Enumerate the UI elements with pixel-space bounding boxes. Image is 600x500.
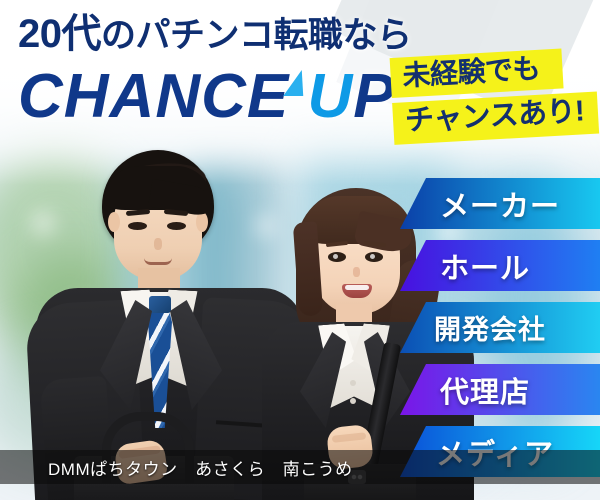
credit-strip: DMMぱちタウン あさくら 南こうめ: [0, 450, 600, 484]
male-nose: [154, 238, 162, 250]
category-hall[interactable]: ホール: [400, 240, 600, 291]
male-eye-right: [167, 222, 186, 230]
category-label: 開発会社: [400, 308, 546, 347]
banner-ad[interactable]: 20代のパチンコ転職なら CHANCE UP 未経験でも チャンスあり! メーカ…: [0, 0, 600, 500]
logo-u-arrow-icon: U: [307, 66, 353, 128]
category-maker[interactable]: メーカー: [400, 178, 600, 229]
female-blouse-button: [350, 380, 356, 386]
male-ear-right: [196, 212, 208, 232]
female-eye-right: [365, 252, 383, 262]
page-title: 20代のパチンコ転職なら: [18, 14, 412, 54]
male-fringe: [104, 166, 212, 210]
logo-chance-text: CHANCE: [18, 62, 307, 131]
female-blouse-button: [350, 398, 356, 404]
female-fringe: [302, 196, 412, 244]
credit-text: DMMぱちタウン あさくら 南こうめ: [0, 455, 353, 480]
category-development-company[interactable]: 開発会社: [400, 302, 600, 353]
category-label: ホール: [400, 245, 530, 287]
badge-line-2: チャンスあり!: [392, 92, 599, 145]
brand-logo: CHANCE UP: [18, 66, 396, 128]
status-badge: 未経験でも チャンスあり!: [390, 46, 600, 149]
logo-p-text: P: [353, 62, 395, 131]
male-mouth: [144, 258, 172, 265]
male-eye-left: [128, 222, 147, 230]
female-eye-left: [328, 252, 346, 262]
headline-age: 20代: [18, 12, 101, 56]
category-list[interactable]: メーカー ホール 開発会社 代理店 メディア: [400, 178, 600, 488]
female-nose: [353, 267, 360, 277]
male-tie-knot: [149, 296, 171, 313]
category-agency[interactable]: 代理店: [400, 364, 600, 415]
badge-line-1: 未経験でも: [390, 48, 564, 98]
male-ear-left: [108, 212, 120, 232]
category-label: メーカー: [400, 183, 560, 225]
headline-rest: のパチンコ転職なら: [101, 16, 412, 55]
category-label: 代理店: [400, 369, 530, 411]
